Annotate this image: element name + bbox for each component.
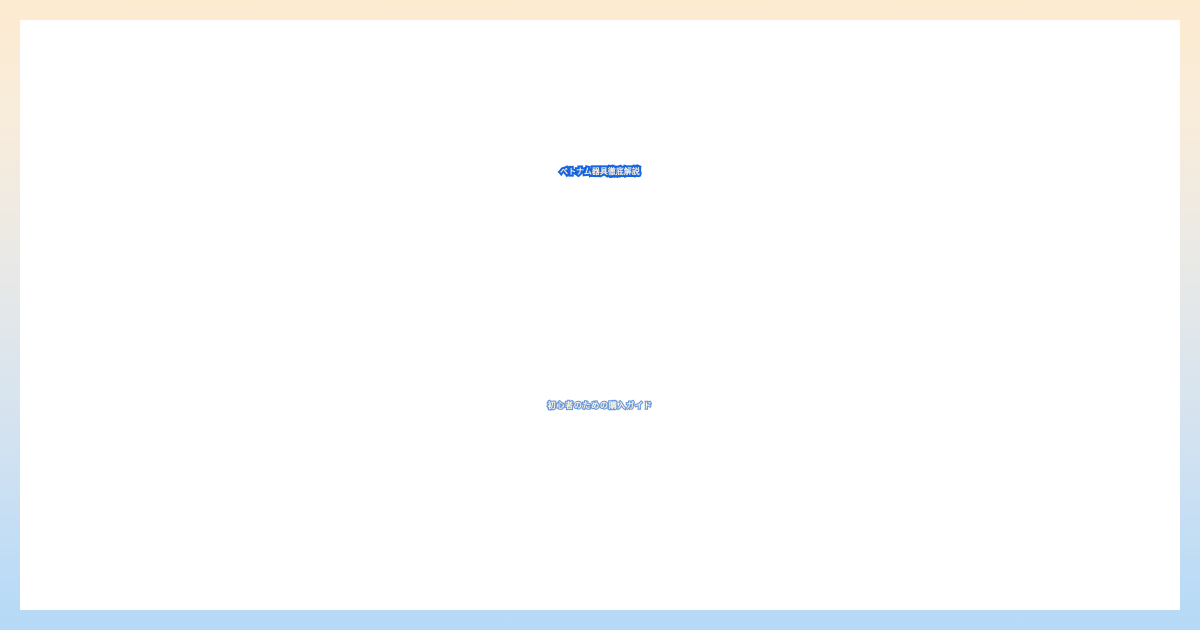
subtitle-block: 初心者のための購入ガイド [20,402,1180,411]
title-block: ベトナム器具徹底解説 [20,168,1180,176]
page-title: ベトナム器具徹底解説 [29,168,1172,176]
page-subtitle: 初心者のための購入ガイド [20,402,1180,411]
eyecatch-card: ベトナム器具徹底解説 初心者のための購入ガイド [0,0,1200,630]
inner-canvas: ベトナム器具徹底解説 初心者のための購入ガイド [20,20,1180,610]
